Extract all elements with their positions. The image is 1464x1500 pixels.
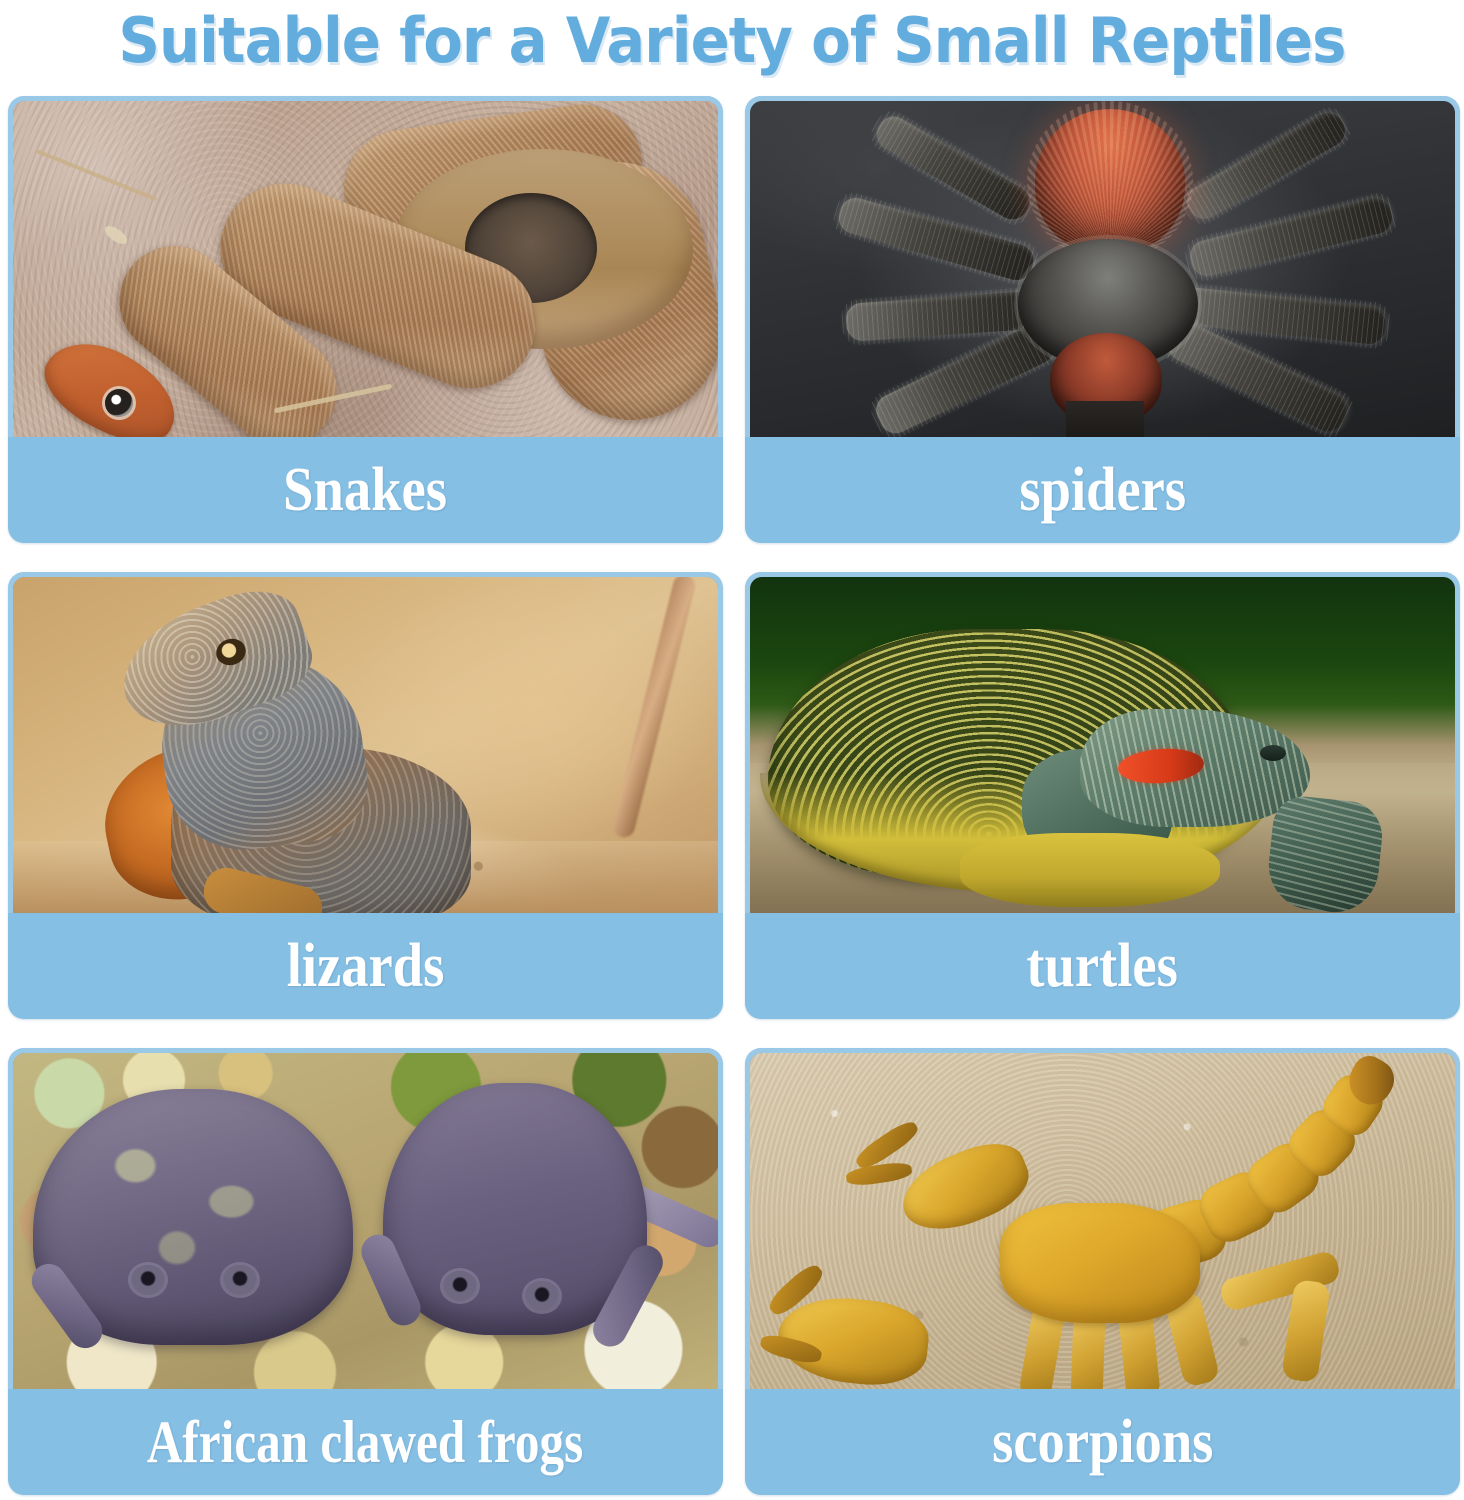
label-bar-lizards: lizards [8,913,723,1019]
label-bar-scorpions: scorpions [745,1389,1460,1495]
turtle-front-leg [1264,794,1385,913]
scorpion-photo [750,1053,1455,1389]
photo-frame-turtles [745,572,1460,913]
label-bar-snakes: Snakes [8,437,723,543]
infographic-page: Suitable for a Variety of Small Reptiles [0,0,1464,1500]
label-bar-spiders: spiders [745,437,1460,543]
card-label-snakes: Snakes [284,459,448,521]
frog-right-eye-1 [443,1271,477,1301]
frog-left-eye-1 [131,1265,165,1295]
snake-eye [105,389,133,417]
card-scorpions[interactable]: scorpions [745,1048,1460,1495]
label-bar-african-clawed-frogs: African clawed frogs [8,1389,723,1495]
card-lizards[interactable]: lizards [8,572,723,1019]
card-label-lizards: lizards [287,935,445,997]
scorpion-body [1000,1203,1200,1323]
card-snakes[interactable]: Snakes [8,96,723,543]
photo-frame-frogs [8,1048,723,1389]
spider-photo [750,101,1455,437]
card-label-spiders: spiders [1019,459,1186,521]
card-label-african-clawed-frogs: African clawed frogs [147,1412,583,1472]
snake-photo [13,101,718,437]
page-title: Suitable for a Variety of Small Reptiles [51,0,1413,84]
label-bar-turtles: turtles [745,913,1460,1019]
lizard-photo [13,577,718,913]
turtle-plastron [960,833,1220,907]
photo-frame-lizards [8,572,723,913]
frogs-photo [13,1053,718,1389]
turtle-eye [1260,745,1286,761]
card-turtles[interactable]: turtles [745,572,1460,1019]
card-spiders[interactable]: spiders [745,96,1460,543]
card-label-scorpions: scorpions [992,1411,1213,1473]
spider-fangs [1066,401,1144,437]
photo-frame-spiders [745,96,1460,437]
reptile-card-grid: Snakes [8,96,1460,1496]
frog-right-eye-2 [525,1281,559,1311]
frog-left-eye-2 [223,1265,257,1295]
turtle-photo [750,577,1455,913]
spider-abdomen [1035,109,1185,254]
photo-frame-scorpions [745,1048,1460,1389]
card-african-clawed-frogs[interactable]: African clawed frogs [8,1048,723,1495]
photo-frame-snakes [8,96,723,437]
card-label-turtles: turtles [1027,935,1179,997]
